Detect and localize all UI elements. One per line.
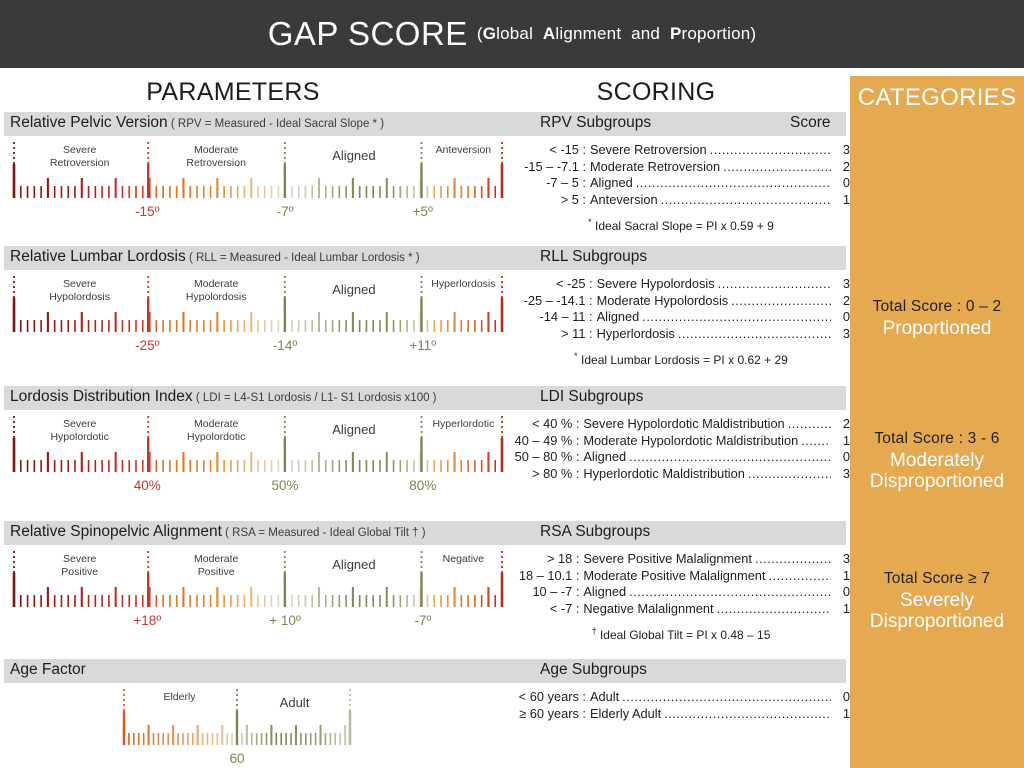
scoring-value: 3 xyxy=(834,142,850,159)
ruler-tick-value: 50% xyxy=(245,478,325,493)
category-block-severely-disproportioned: Total Score ≥ 7 SeverelyDisproportioned xyxy=(850,570,1024,633)
page-subtitle: (Global Alignment and Proportion) xyxy=(477,24,756,44)
scoring-description: Severe Hypolordosis xyxy=(593,276,715,293)
ruler: ElderlyAdult60 xyxy=(122,687,352,768)
scoring-dot-leader: ........................................… xyxy=(723,159,831,176)
ruler: SeverePositiveModeratePositiveAlignedNeg… xyxy=(12,549,504,633)
scoring-description: Moderate Positive Malalignment xyxy=(579,568,765,585)
subgroup-title: Age Subgroups xyxy=(540,661,647,679)
zone-label: ModerateHypolordotic xyxy=(146,418,286,444)
scoring-value: 0 xyxy=(834,584,850,601)
scoring-range: < -25 : xyxy=(512,276,593,293)
scoring-value: 1 xyxy=(834,433,850,450)
scoring-range: -25 – -14.1 : xyxy=(512,293,593,310)
ruler-tick-value: -7º xyxy=(383,613,463,628)
zone-label: SeverePositive xyxy=(10,553,150,579)
scoring-description: Adult xyxy=(586,689,619,706)
ruler-tick-value: 60 xyxy=(197,751,277,766)
scoring-range: -15 – -7.1 : xyxy=(512,159,586,176)
scoring-note: * Ideal Sacral Slope = PI x 0.59 + 9 xyxy=(512,217,850,233)
scoring-dot-leader: ........................................… xyxy=(731,293,831,310)
ruler-tick-value: +11º xyxy=(383,338,463,353)
subgroup-title: LDI Subgroups xyxy=(540,388,643,406)
gap-score-infographic: GAP SCORE (Global Alignment and Proporti… xyxy=(0,0,1024,768)
scoring-range: < -15 : xyxy=(512,142,586,159)
ruler-tick-value: -25º xyxy=(107,338,187,353)
scoring-value: 0 xyxy=(834,309,850,326)
ruler-tick-value: -14º xyxy=(245,338,325,353)
scoring-range: > 11 : xyxy=(512,326,593,343)
scoring-description: Moderate Retroversion xyxy=(586,159,720,176)
scoring-row: 10 – -7 :Aligned........................… xyxy=(512,584,850,601)
title-bar: GAP SCORE (Global Alignment and Proporti… xyxy=(0,0,1024,68)
scoring-dot-leader: ........................................… xyxy=(748,466,831,483)
ruler-tick-value: +5º xyxy=(383,204,463,219)
scoring-list: < -15 :Severe Retroversion..............… xyxy=(512,142,850,233)
section-title: Age Factor xyxy=(10,661,86,679)
scoring-row: ≥ 60 years :Elderly Adult...............… xyxy=(512,706,850,723)
section-title: Relative Spinopelvic Alignment ( RSA = M… xyxy=(10,523,426,541)
scoring-row: > 5 :Anteversion........................… xyxy=(512,192,850,209)
scoring-list: > 18 :Severe Positive Malalignment......… xyxy=(512,551,850,642)
scoring-list: < -25 :Severe Hypolordosis..............… xyxy=(512,276,850,367)
scoring-dot-leader: ........................................… xyxy=(664,706,831,723)
category-block-proportioned: Total Score : 0 – 2 Proportioned xyxy=(850,298,1024,339)
ruler-tick-value: 40% xyxy=(107,478,187,493)
zone-label: SevereHypolordotic xyxy=(10,418,150,444)
scoring-description: Severe Hypolordotic Maldistribution xyxy=(579,416,784,433)
scoring-note: † Ideal Global Tilt = PI x 0.48 – 15 xyxy=(512,626,850,642)
scoring-description: Severe Positive Malalignment xyxy=(579,551,752,568)
scoring-range: -7 – 5 : xyxy=(512,175,586,192)
scoring-row: < 40 % :Severe Hypolordotic Maldistribut… xyxy=(512,416,850,433)
scoring-description: Elderly Adult xyxy=(586,706,661,723)
zone-label: ModerateRetroversion xyxy=(146,144,286,170)
ruler-tick-value: -7º xyxy=(245,204,325,219)
ruler-tick-value: -15º xyxy=(107,204,187,219)
scoring-row: < -7 :Negative Malalignment.............… xyxy=(512,601,850,618)
scoring-row: 40 – 49 % :Moderate Hypolordotic Maldist… xyxy=(512,433,850,450)
scoring-range: < 40 % : xyxy=(512,416,579,433)
scoring-row: > 18 :Severe Positive Malalignment......… xyxy=(512,551,850,568)
category-label: Proportioned xyxy=(850,318,1024,339)
scoring-value: 3 xyxy=(834,551,850,568)
scoring-row: -7 – 5 :Aligned.........................… xyxy=(512,175,850,192)
section-title: Lordosis Distribution Index ( LDI = L4-S… xyxy=(10,388,437,406)
scoring-description: Anteversion xyxy=(586,192,658,209)
scoring-range: > 18 : xyxy=(512,551,579,568)
scoring-description: Moderate Hypolordosis xyxy=(593,293,729,310)
subgroup-title: RLL Subgroups xyxy=(540,248,647,266)
scoring-dot-leader: ........................................… xyxy=(768,568,831,585)
scoring-value: 3 xyxy=(834,326,850,343)
ruler: SevereHypolordosisModerateHypolordosisAl… xyxy=(12,274,504,358)
scoring-row: 18 – 10.1 :Moderate Positive Malalignmen… xyxy=(512,568,850,585)
scoring-dot-leader: ........................................… xyxy=(718,276,831,293)
page-title: GAP SCORE xyxy=(268,15,468,53)
ruler: SevereHypolordoticModerateHypolordoticAl… xyxy=(12,414,504,498)
subgroup-title: RSA Subgroups xyxy=(540,523,650,541)
scoring-range: < -7 : xyxy=(512,601,579,618)
scoring-range: > 80 % : xyxy=(512,466,579,483)
zone-label: ModerateHypolordosis xyxy=(146,278,286,304)
ruler-tick-value: +18º xyxy=(107,613,187,628)
section-formula: ( RLL = Measured - Ideal Lumbar Lordosis… xyxy=(186,252,420,264)
scoring-dot-leader: ........................................… xyxy=(661,192,831,209)
category-label: SeverelyDisproportioned xyxy=(850,590,1024,633)
scoring-description: Aligned xyxy=(593,309,640,326)
scoring-row: > 11 :Hyperlordosis.....................… xyxy=(512,326,850,343)
section-formula: ( LDI = L4-S1 Lordosis / L1- S1 Lordosis… xyxy=(193,392,437,404)
scoring-range: ≥ 60 years : xyxy=(512,706,586,723)
scoring-range: < 60 years : xyxy=(512,689,586,706)
scoring-row: 50 – 80 % :Aligned......................… xyxy=(512,449,850,466)
scoring-dot-leader: ........................................… xyxy=(788,416,831,433)
ruler-tick-value: 80% xyxy=(383,478,463,493)
scoring-range: 40 – 49 % : xyxy=(512,433,579,450)
scoring-value: 0 xyxy=(834,689,850,706)
scoring-dot-leader: ........................................… xyxy=(717,601,831,618)
scoring-dot-leader: ........................................… xyxy=(801,433,831,450)
scoring-value: 1 xyxy=(834,601,850,618)
scoring-dot-leader: ........................................… xyxy=(642,309,831,326)
ruler: SevereRetroversionModerateRetroversionAl… xyxy=(12,140,504,224)
scoring-list: < 60 years :Adult.......................… xyxy=(512,689,850,722)
scoring-list: < 40 % :Severe Hypolordotic Maldistribut… xyxy=(512,416,850,482)
categories-title: CATEGORIES xyxy=(850,84,1024,112)
section-header-bar xyxy=(4,659,846,683)
zone-label: Adult xyxy=(225,695,365,711)
ruler-tick-value: + 10º xyxy=(245,613,325,628)
scoring-description: Hyperlordosis xyxy=(593,326,675,343)
scoring-value: 2 xyxy=(834,159,850,176)
scoring-dot-leader: ........................................… xyxy=(622,689,831,706)
scoring-row: -14 – 11 :Aligned.......................… xyxy=(512,309,850,326)
scoring-row: < 60 years :Adult.......................… xyxy=(512,689,850,706)
scoring-value: 2 xyxy=(834,416,850,433)
scoring-range: -14 – 11 : xyxy=(512,309,593,326)
scoring-range: 10 – -7 : xyxy=(512,584,579,601)
scoring-row: < -25 :Severe Hypolordosis..............… xyxy=(512,276,850,293)
score-column-title: Score xyxy=(790,114,831,132)
scoring-note: * Ideal Lumbar Lordosis = PI x 0.62 + 29 xyxy=(512,351,850,367)
scoring-row: -25 – -14.1 :Moderate Hypolordosis......… xyxy=(512,293,850,310)
scoring-range: 18 – 10.1 : xyxy=(512,568,579,585)
category-score-range: Total Score ≥ 7 xyxy=(850,570,1024,588)
zone-label: SevereRetroversion xyxy=(10,144,150,170)
scoring-value: 3 xyxy=(834,466,850,483)
scoring-description: Severe Retroversion xyxy=(586,142,707,159)
category-score-range: Total Score : 0 – 2 xyxy=(850,298,1024,316)
scoring-description: Aligned xyxy=(586,175,633,192)
scoring-description: Aligned xyxy=(579,449,626,466)
scoring-dot-leader: ........................................… xyxy=(678,326,831,343)
scoring-description: Hyperlordotic Maldistribution xyxy=(579,466,744,483)
scoring-row: -15 – -7.1 :Moderate Retroversion.......… xyxy=(512,159,850,176)
scoring-range: 50 – 80 % : xyxy=(512,449,579,466)
scoring-value: 1 xyxy=(834,706,850,723)
scoring-row: < -15 :Severe Retroversion..............… xyxy=(512,142,850,159)
scoring-row: > 80 % :Hyperlordotic Maldistribution...… xyxy=(512,466,850,483)
category-block-moderately-disproportioned: Total Score : 3 - 6 ModeratelyDisproport… xyxy=(850,430,1024,493)
scoring-dot-leader: ........................................… xyxy=(710,142,831,159)
scoring-dot-leader: ........................................… xyxy=(755,551,831,568)
scoring-description: Moderate Hypolordotic Maldistribution xyxy=(579,433,798,450)
scoring-dot-leader: ........................................… xyxy=(629,449,831,466)
scoring-value: 1 xyxy=(834,192,850,209)
scoring-description: Aligned xyxy=(579,584,626,601)
section-title: Relative Lumbar Lordosis ( RLL = Measure… xyxy=(10,248,420,266)
zone-label: SevereHypolordosis xyxy=(10,278,150,304)
categories-panel: CATEGORIES Total Score : 0 – 2 Proportio… xyxy=(850,76,1024,768)
column-heading-parameters: PARAMETERS xyxy=(0,78,466,107)
section-formula: ( RSA = Measured - Ideal Global Tilt † ) xyxy=(222,527,426,539)
scoring-dot-leader: ........................................… xyxy=(636,175,831,192)
scoring-dot-leader: ........................................… xyxy=(629,584,831,601)
scoring-value: 0 xyxy=(834,449,850,466)
scoring-value: 0 xyxy=(834,175,850,192)
zone-label: ModeratePositive xyxy=(146,553,286,579)
category-label: ModeratelyDisproportioned xyxy=(850,450,1024,493)
section-formula: ( RPV = Measured - Ideal Sacral Slope * … xyxy=(168,118,384,130)
subgroup-title: RPV Subgroups xyxy=(540,114,651,132)
scoring-description: Negative Malalignment xyxy=(579,601,713,618)
scoring-value: 3 xyxy=(834,276,850,293)
scoring-range: > 5 : xyxy=(512,192,586,209)
category-score-range: Total Score : 3 - 6 xyxy=(850,430,1024,448)
section-title: Relative Pelvic Version ( RPV = Measured… xyxy=(10,114,384,132)
scoring-value: 1 xyxy=(834,568,850,585)
column-heading-scoring: SCORING xyxy=(470,78,842,107)
scoring-value: 2 xyxy=(834,293,850,310)
